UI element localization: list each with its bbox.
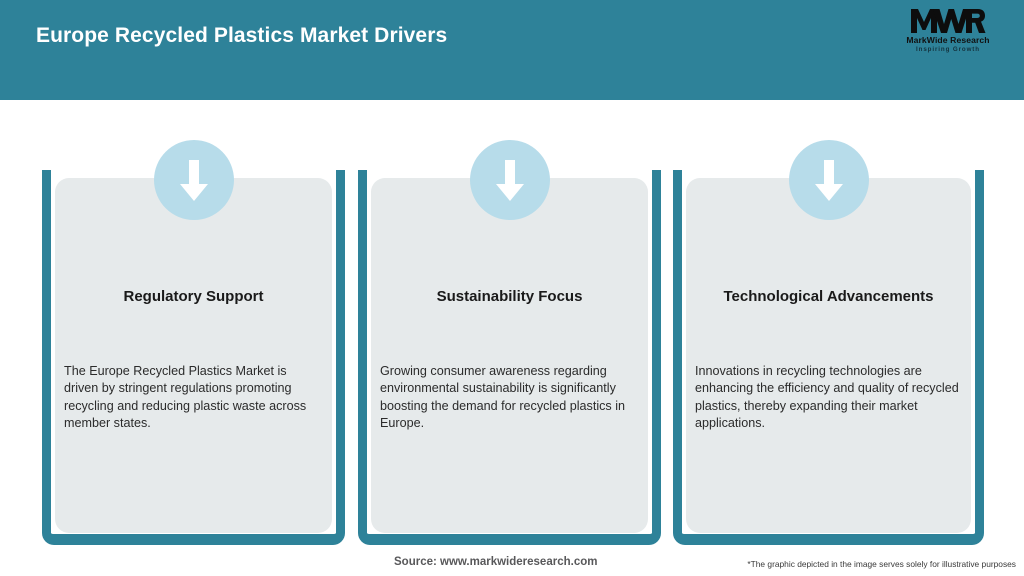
card-title: Technological Advancements bbox=[696, 288, 961, 306]
arrow-down-icon bbox=[470, 140, 550, 220]
card-panel: Technological Advancements Innovations i… bbox=[686, 178, 971, 533]
page-title: Europe Recycled Plastics Market Drivers bbox=[36, 24, 447, 48]
card-title: Sustainability Focus bbox=[381, 288, 638, 306]
card-panel: Sustainability Focus Growing consumer aw… bbox=[371, 178, 648, 533]
header-band bbox=[0, 0, 1024, 100]
card-panel: Regulatory Support The Europe Recycled P… bbox=[55, 178, 332, 533]
card-body: The Europe Recycled Plastics Market is d… bbox=[64, 363, 323, 432]
arrow-down-icon bbox=[789, 140, 869, 220]
logo-company-name: MarkWide Research bbox=[894, 35, 1002, 45]
card-body: Innovations in recycling technologies ar… bbox=[695, 363, 962, 432]
card-title: Regulatory Support bbox=[65, 288, 322, 306]
logo-tagline: Inspiring Growth bbox=[894, 46, 1002, 53]
logo: MarkWide Research Inspiring Growth bbox=[894, 8, 1002, 60]
footer-disclaimer: *The graphic depicted in the image serve… bbox=[747, 559, 1016, 569]
card-body: Growing consumer awareness regarding env… bbox=[380, 363, 639, 432]
mwr-logo-icon bbox=[894, 8, 1002, 34]
arrow-down-icon bbox=[154, 140, 234, 220]
footer-source[interactable]: Source: www.markwideresearch.com bbox=[394, 556, 597, 568]
